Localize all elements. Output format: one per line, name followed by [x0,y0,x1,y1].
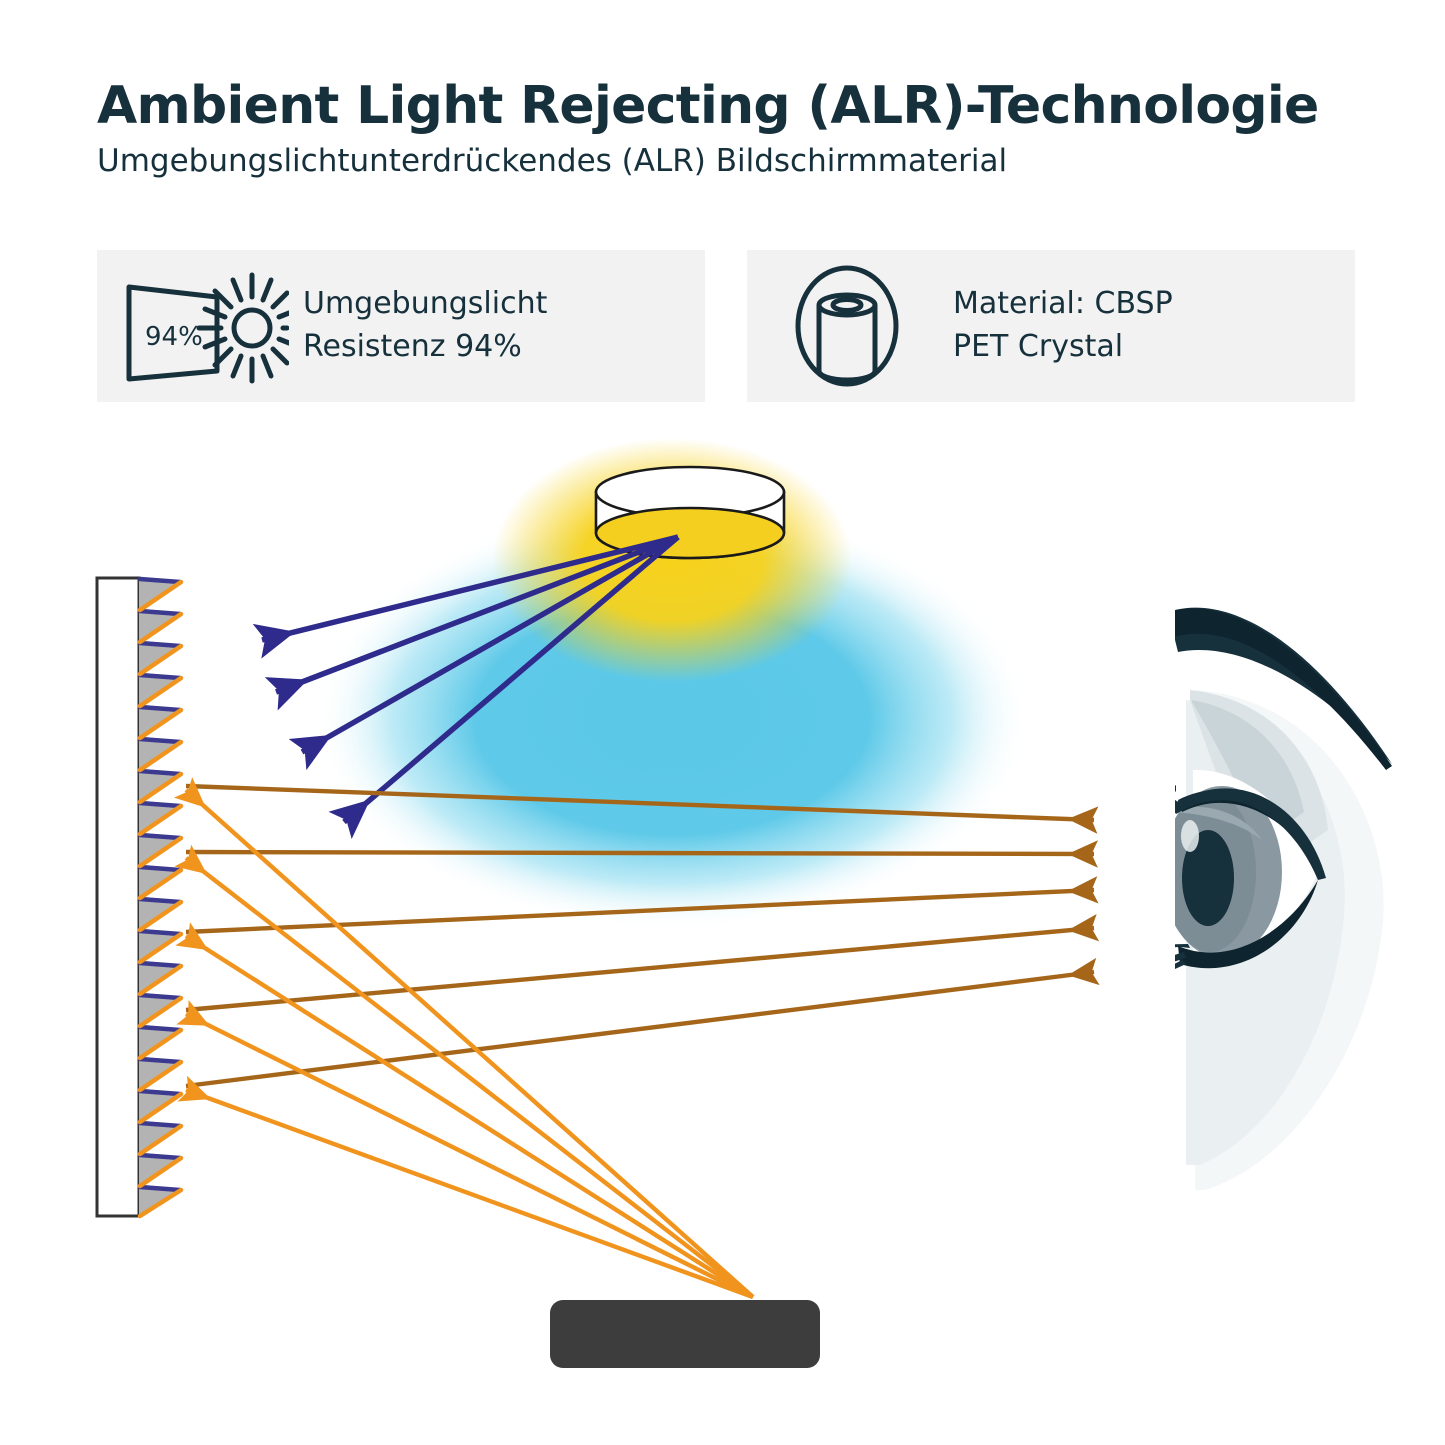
projector-ray-5 [186,1090,753,1297]
projector [550,1300,820,1368]
alr-diagram [0,0,1445,1445]
ceiling-lamp [596,467,784,558]
reflected-ray-5 [186,972,1094,1086]
projector-ray-4 [186,1014,753,1297]
infographic-root: Ambient Light Rejecting (ALR)-Technologi… [0,0,1445,1445]
screen-teeth [139,578,181,1216]
projector-ray-3 [186,936,753,1297]
eye-illustration [1116,608,1392,1190]
reflected-ray-2 [186,852,1094,854]
reflected-ray-4 [186,928,1094,1010]
alr-screen [97,578,181,1216]
